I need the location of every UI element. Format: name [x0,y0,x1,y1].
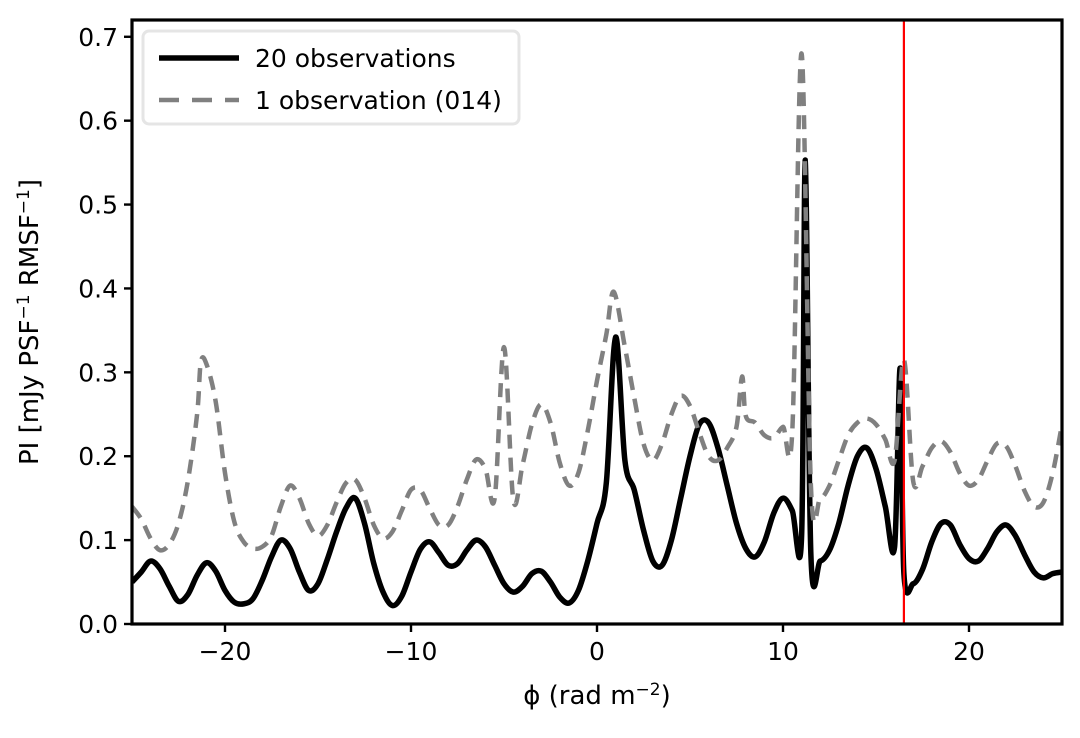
x-axis-title-close: ) [661,681,671,711]
legend: 20 observations1 observation (014) [143,31,519,124]
x-axis-title-exponent: −2 [636,680,661,700]
y-tick-label: 0.7 [78,23,118,52]
x-axis-title-symbol: ϕ (rad m [523,681,635,711]
y-tick-label: 0.1 [78,526,118,555]
series-line-1-observation [132,53,1062,550]
y-tick-label: 0.2 [78,442,118,471]
rm-synthesis-figure: 0.00.10.20.30.40.50.60.7−20−1001020ϕ (ra… [0,0,1080,738]
y-axis-title-suffix: ] [15,179,45,189]
x-tick-label: 10 [767,637,799,666]
y-tick-label: 0.6 [78,107,118,136]
y-axis-title-prefix: PI [mJy PSF [15,319,45,465]
y-axis-title: PI [mJy PSF−1 RMSF−1] [14,179,45,465]
y-tick-label: 0.4 [78,274,118,303]
y-tick-label: 0.3 [78,358,118,387]
legend-label-1-observation: 1 observation (014) [255,86,502,115]
x-tick-label: −20 [199,637,252,666]
axes-group: 0.00.10.20.30.40.50.60.7−20−1001020ϕ (ra… [14,20,1062,711]
y-axis-title-exponent-2: −1 [14,189,34,214]
y-axis-title-mid: RMSF [15,214,45,294]
x-axis-title: ϕ (rad m−2) [523,680,671,711]
plot-canvas: 0.00.10.20.30.40.50.60.7−20−1001020ϕ (ra… [0,0,1080,738]
y-tick-label: 0.0 [78,610,118,639]
y-tick-label: 0.5 [78,191,118,220]
legend-label-20-observations: 20 observations [255,44,456,73]
y-axis-title-exponent-1: −1 [14,294,34,319]
x-tick-label: 0 [589,637,605,666]
x-tick-label: 20 [953,637,985,666]
x-tick-label: −10 [385,637,438,666]
